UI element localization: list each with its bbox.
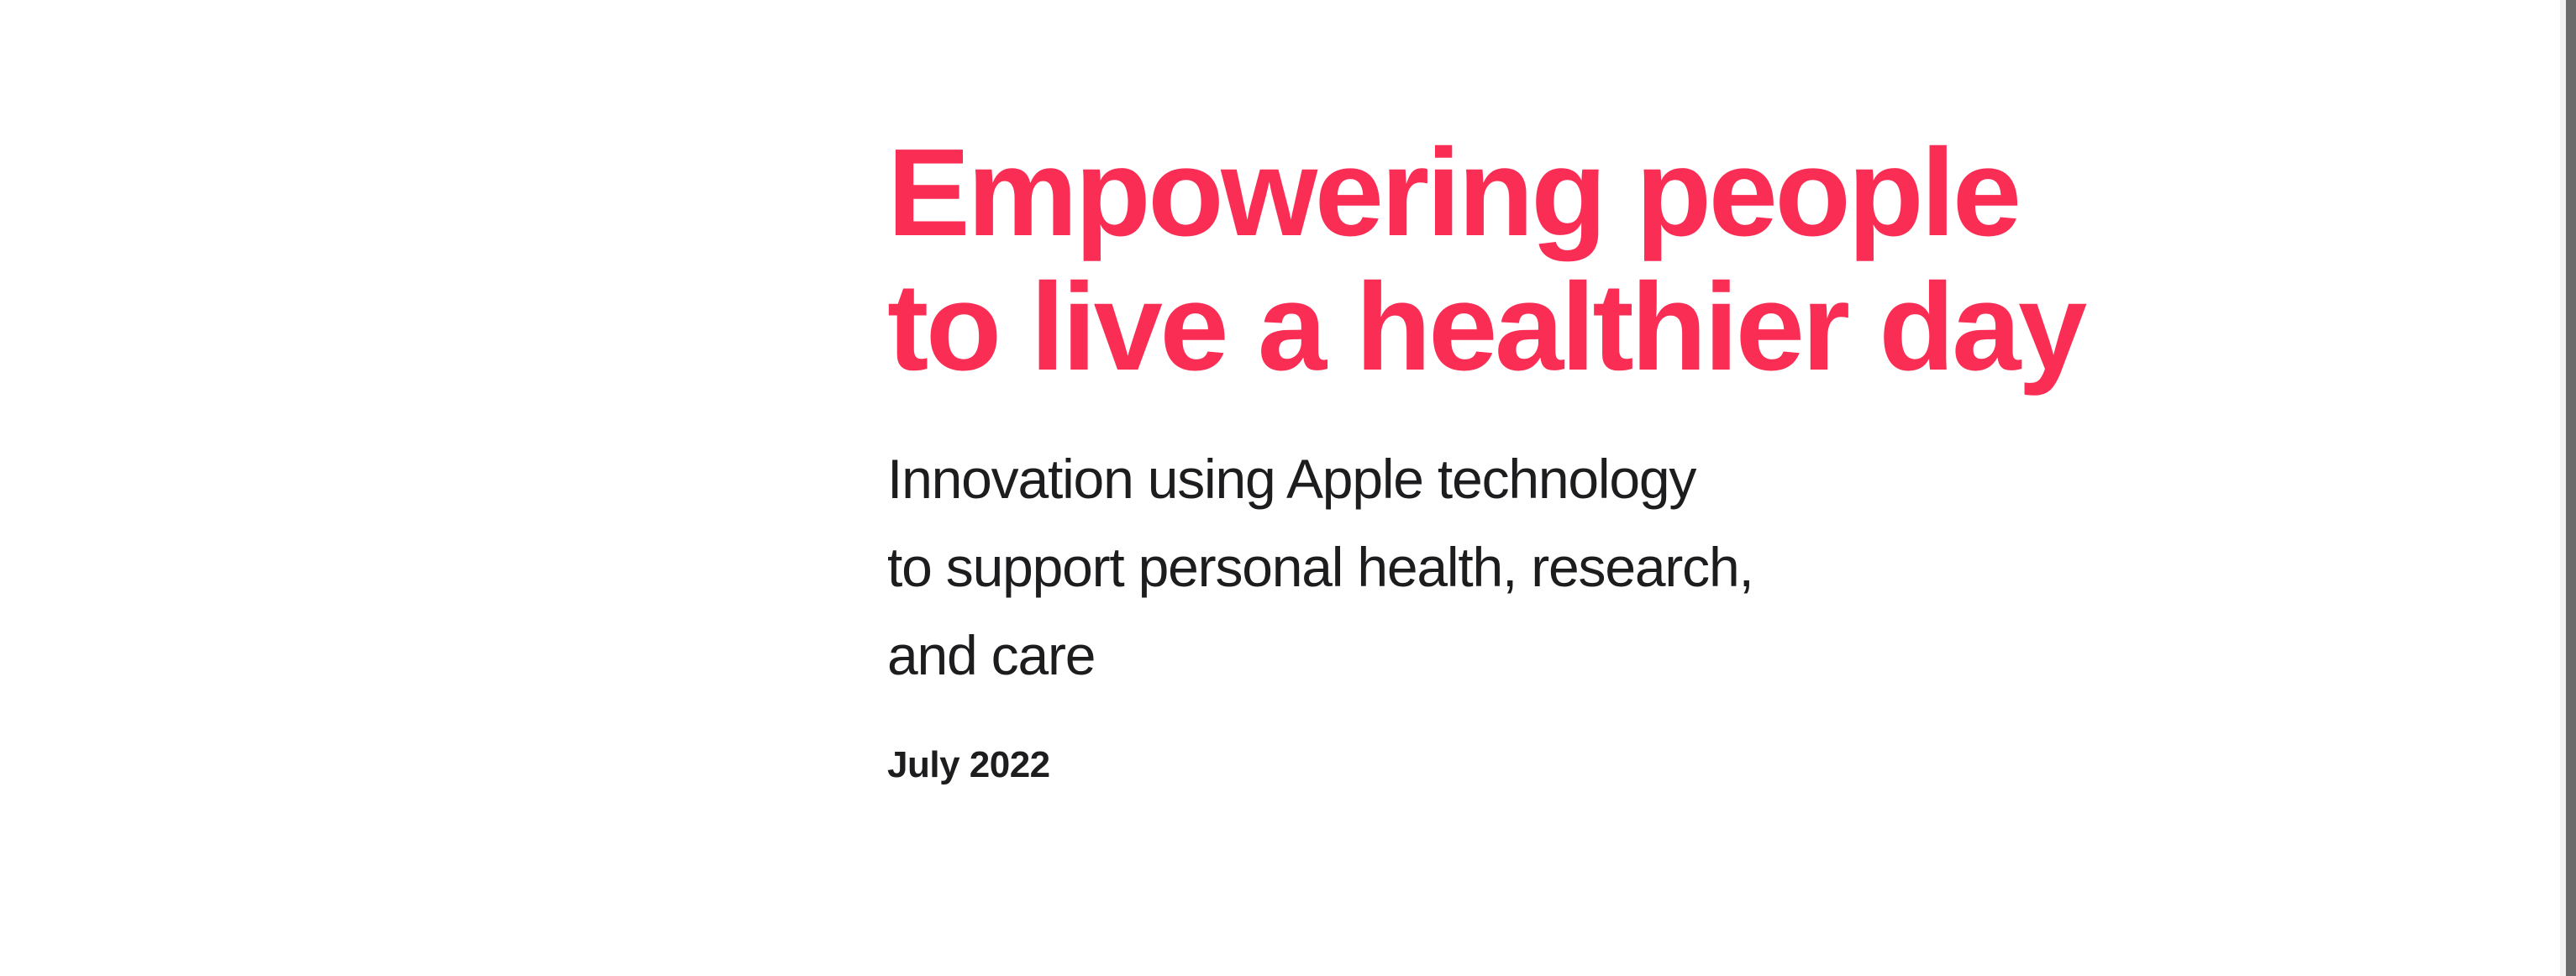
page-title: Empowering people to live a healthier da… [887, 126, 2316, 395]
headline-line-2: to live a healthier day [887, 260, 2316, 395]
scrollbar-thumb[interactable] [2566, 0, 2576, 976]
page-subtitle: Innovation using Apple technology to sup… [887, 435, 2316, 700]
headline-line-1: Empowering people [887, 126, 2316, 260]
subtitle-line-3: and care [887, 611, 2316, 700]
publication-date: July 2022 [887, 743, 2316, 787]
subtitle-line-1: Innovation using Apple technology [887, 435, 2316, 523]
title-slide: Empowering people to live a healthier da… [0, 0, 2576, 976]
subtitle-line-2: to support personal health, research, [887, 523, 2316, 611]
vertical-scrollbar[interactable] [2560, 0, 2576, 976]
title-text-block: Empowering people to live a healthier da… [887, 126, 2316, 787]
